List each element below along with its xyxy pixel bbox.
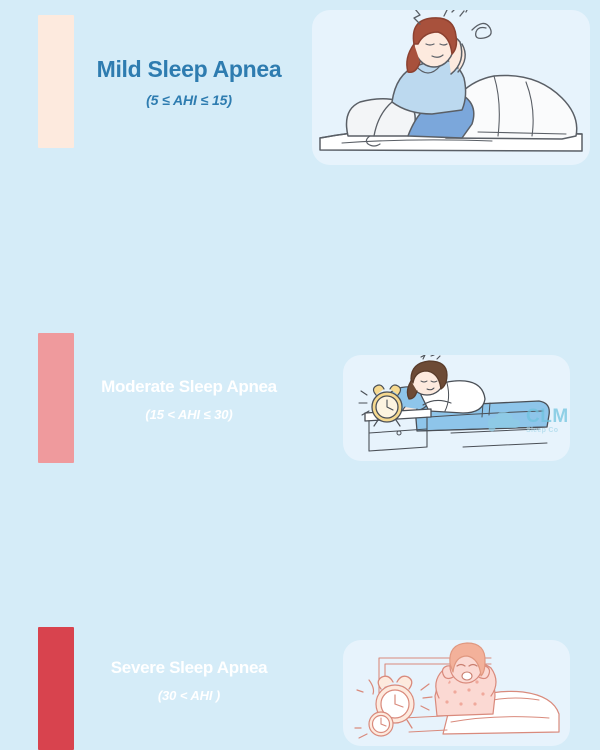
severity-title-severe: Severe Sleep Apnea <box>74 658 304 678</box>
severity-title-mild: Mild Sleep Apnea <box>74 56 304 82</box>
logo-name: CLM <box>526 407 569 426</box>
clm-logo: CLM Sleep Co <box>487 400 587 440</box>
severity-swatch-mild <box>38 15 74 148</box>
severity-row-mild: Mild Sleep Apnea (5 ≤ AHI ≤ 15) <box>0 0 600 165</box>
logo-tagline: Sleep Co <box>526 427 569 434</box>
logo-text: CLM Sleep Co <box>526 407 569 434</box>
severity-range-severe: (30 < AHI ) <box>74 688 304 703</box>
sleep-apnea-severity-infographic: Mild Sleep Apnea (5 ≤ AHI ≤ 15) <box>0 0 600 450</box>
illustration-card-severe <box>343 640 570 746</box>
woman-covering-ears-alarm-clock-icon <box>343 640 570 746</box>
illustration-card-mild <box>312 10 590 165</box>
severity-range-mild: (5 ≤ AHI ≤ 15) <box>74 92 304 108</box>
severity-label-block-severe: Severe Sleep Apnea (30 < AHI ) <box>74 658 304 703</box>
severity-swatch-severe <box>38 627 74 750</box>
severity-row-moderate: Moderate Sleep Apnea (15 < AHI ≤ 30) <box>0 165 600 310</box>
cloud-mark-icon <box>487 408 521 432</box>
woman-sitting-on-bed-tired-icon <box>312 10 590 165</box>
severity-label-block-mild: Mild Sleep Apnea (5 ≤ AHI ≤ 15) <box>74 56 304 108</box>
